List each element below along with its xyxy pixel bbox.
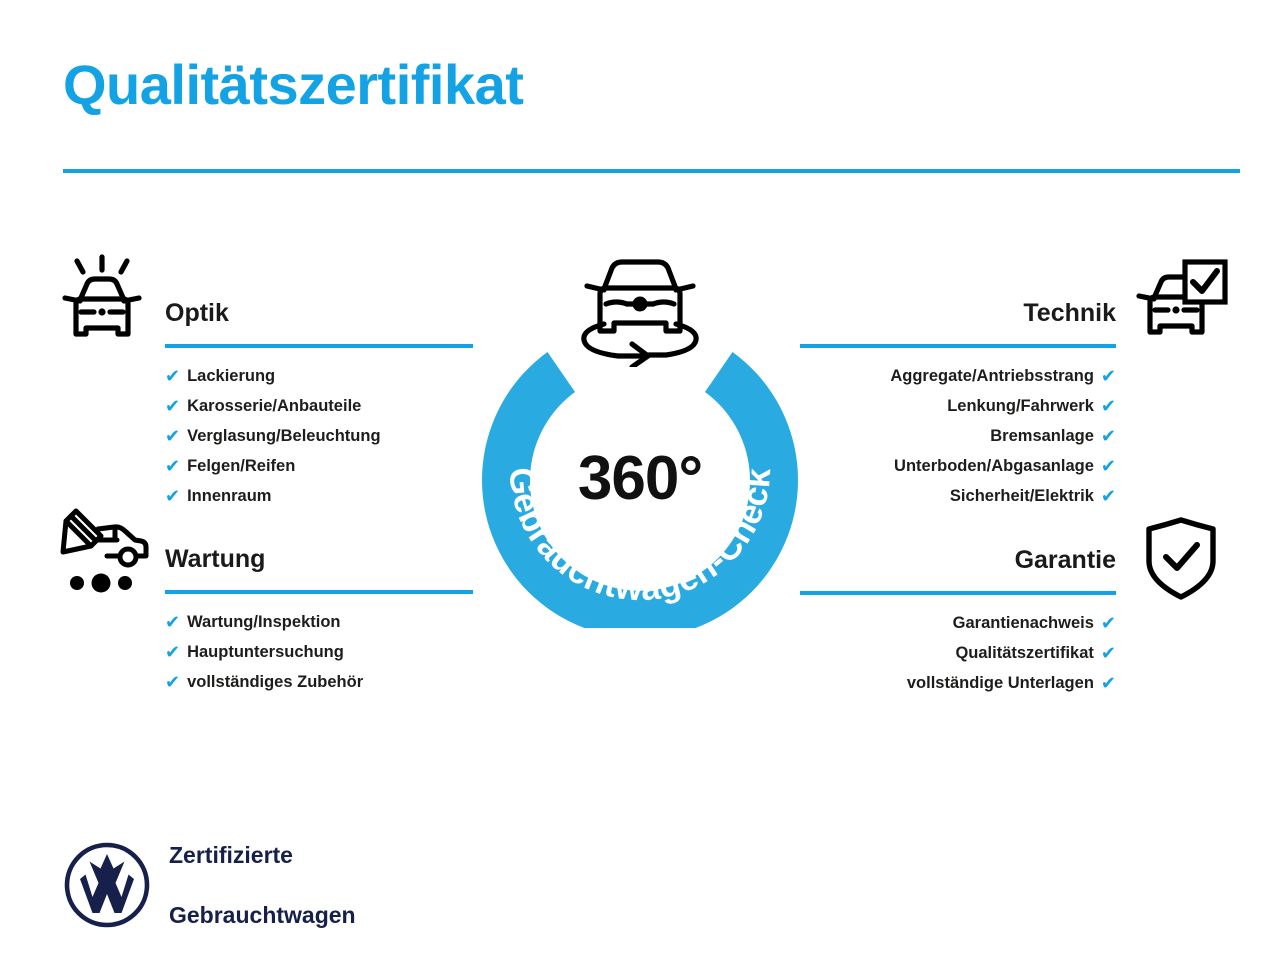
list-item-label: Qualitätszertifikat: [955, 638, 1093, 668]
list-item: Unterboden/Abgasanlage✔: [800, 451, 1116, 481]
check-icon: ✔: [165, 673, 180, 691]
list-item-label: Unterboden/Abgasanlage: [894, 451, 1094, 481]
section-wartung: Wartung ✔Wartung/Inspektion ✔Hauptunters…: [165, 542, 473, 697]
check-icon: ✔: [165, 427, 180, 445]
list-item: ✔Innenraum: [165, 481, 473, 511]
section-technik-list: Aggregate/Antriebsstrang✔ Lenkung/Fahrwe…: [800, 361, 1116, 511]
check-icon: ✔: [1101, 614, 1116, 632]
footer-brand-lockup: Zertifizierte Gebrauchtwagen: [63, 810, 356, 960]
list-item-label: Wartung/Inspektion: [187, 607, 340, 637]
section-wartung-divider: [165, 590, 473, 594]
car-service-pencil-icon: [57, 505, 157, 602]
section-optik-title: Optik: [165, 296, 473, 330]
check-icon: ✔: [1101, 427, 1116, 445]
car-front-shine-icon: [56, 254, 148, 355]
check-icon: ✔: [165, 487, 180, 505]
check-icon: ✔: [165, 643, 180, 661]
list-item-label: Lenkung/Fahrwerk: [947, 391, 1094, 421]
section-technik-divider: [800, 344, 1116, 348]
section-wartung-header: Wartung: [165, 542, 473, 594]
check-icon: ✔: [1101, 644, 1116, 662]
car-front-checkbox-icon: [1136, 258, 1228, 351]
section-technik: Technik Aggregate/Antriebsstrang✔ Lenkun…: [800, 296, 1116, 511]
section-garantie-header: Garantie: [800, 543, 1116, 595]
list-item: Lenkung/Fahrwerk✔: [800, 391, 1116, 421]
list-item: ✔Karosserie/Anbauteile: [165, 391, 473, 421]
section-garantie: Garantie Garantienachweis✔ Qualitätszert…: [800, 543, 1116, 698]
list-item-label: Bremsanlage: [990, 421, 1094, 451]
section-wartung-title: Wartung: [165, 542, 473, 576]
shield-check-icon: [1143, 517, 1219, 606]
list-item: ✔Felgen/Reifen: [165, 451, 473, 481]
list-item-label: Sicherheit/Elektrik: [950, 481, 1094, 511]
list-item: Bremsanlage✔: [800, 421, 1116, 451]
check-icon: ✔: [165, 397, 180, 415]
check-icon: ✔: [1101, 367, 1116, 385]
section-optik-header: Optik: [165, 296, 473, 348]
list-item: ✔Hauptuntersuchung: [165, 637, 473, 667]
list-item: Sicherheit/Elektrik✔: [800, 481, 1116, 511]
section-technik-header: Technik: [800, 296, 1116, 348]
footer-text: Zertifizierte Gebrauchtwagen: [169, 810, 356, 960]
section-garantie-list: Garantienachweis✔ Qualitätszertifikat✔ v…: [800, 608, 1116, 698]
list-item-label: Aggregate/Antriebsstrang: [890, 361, 1094, 391]
section-garantie-divider: [800, 591, 1116, 595]
section-optik-divider: [165, 344, 473, 348]
badge-value: 360°: [466, 448, 814, 510]
list-item: ✔Lackierung: [165, 361, 473, 391]
list-item-label: vollständiges Zubehör: [187, 667, 363, 697]
section-optik-list: ✔Lackierung ✔Karosserie/Anbauteile ✔Verg…: [165, 361, 473, 511]
check-icon: ✔: [1101, 397, 1116, 415]
list-item: Qualitätszertifikat✔: [800, 638, 1116, 668]
list-item-label: Karosserie/Anbauteile: [187, 391, 361, 421]
car-rotate-360-icon: [570, 252, 710, 372]
list-item-label: Verglasung/Beleuchtung: [187, 421, 380, 451]
section-wartung-list: ✔Wartung/Inspektion ✔Hauptuntersuchung ✔…: [165, 607, 473, 697]
list-item-label: Lackierung: [187, 361, 275, 391]
list-item: ✔Verglasung/Beleuchtung: [165, 421, 473, 451]
page-title: Qualitätszertifikat: [63, 56, 523, 115]
footer-line-2: Gebrauchtwagen: [169, 900, 356, 930]
check-icon: ✔: [165, 613, 180, 631]
header-divider: [63, 169, 1240, 173]
section-optik: Optik ✔Lackierung ✔Karosserie/Anbauteile…: [165, 296, 473, 511]
volkswagen-logo: [63, 841, 151, 929]
check-icon: ✔: [1101, 674, 1116, 692]
list-item: ✔Wartung/Inspektion: [165, 607, 473, 637]
list-item: Aggregate/Antriebsstrang✔: [800, 361, 1116, 391]
list-item: vollständige Unterlagen✔: [800, 668, 1116, 698]
check-icon: ✔: [165, 367, 180, 385]
list-item-label: Hauptuntersuchung: [187, 637, 344, 667]
list-item-label: Innenraum: [187, 481, 271, 511]
gebrauchtwagen-check-badge: Gebrauchtwagen-Check 360°: [466, 252, 814, 628]
footer-line-1: Zertifizierte: [169, 840, 356, 870]
list-item: Garantienachweis✔: [800, 608, 1116, 638]
check-icon: ✔: [165, 457, 180, 475]
section-technik-title: Technik: [800, 296, 1116, 330]
list-item-label: Garantienachweis: [953, 608, 1094, 638]
section-garantie-title: Garantie: [800, 543, 1116, 577]
check-icon: ✔: [1101, 457, 1116, 475]
list-item-label: Felgen/Reifen: [187, 451, 295, 481]
list-item-label: vollständige Unterlagen: [907, 668, 1094, 698]
check-icon: ✔: [1101, 487, 1116, 505]
list-item: ✔vollständiges Zubehör: [165, 667, 473, 697]
